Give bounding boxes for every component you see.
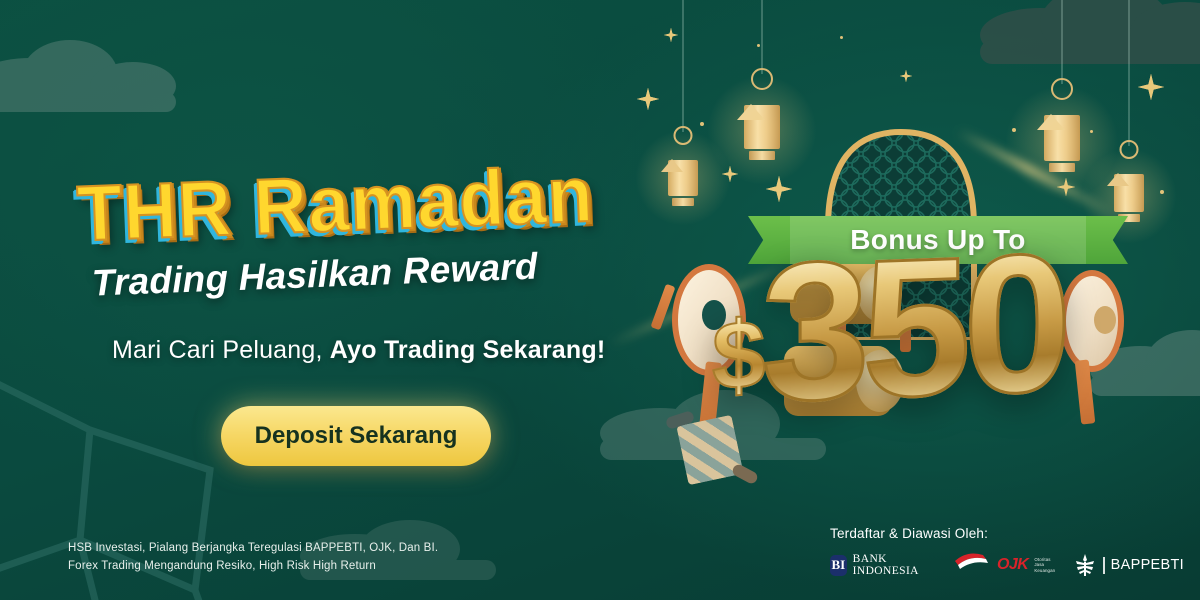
bappebti-logo: BAPPEBTI <box>1073 553 1184 577</box>
regulator-section: Terdaftar & Diawasi Oleh: BI BANK INDONE… <box>814 526 1184 578</box>
disclaimer-line-2: Forex Trading Mengandung Resiko, High Ri… <box>68 558 438 576</box>
ojk-full-name: Otoritas Jasa Keuangan <box>1034 557 1055 574</box>
deposit-now-button[interactable]: Deposit Sekarang <box>221 406 491 466</box>
bank-indonesia-logo: BI BANK INDONESIA <box>830 553 935 577</box>
disclaimer-line-1: HSB Investasi, Pialang Berjangka Teregul… <box>68 540 438 558</box>
ojk-mark-icon <box>953 552 991 578</box>
lantern-icon <box>736 0 788 180</box>
bonus-amount-value: 350 <box>761 247 1064 410</box>
promo-banner: Bonus Up To $ 350 THR Ramadan Trading Ha… <box>0 0 1200 600</box>
bappebti-emblem-icon <box>1073 553 1097 577</box>
bank-indonesia-mark-icon: BI <box>830 555 847 576</box>
lantern-icon <box>1036 0 1088 190</box>
sparkle-dot <box>840 36 843 39</box>
star-sparkle-icon <box>637 88 659 110</box>
tagline-normal-part: Mari Cari Peluang, <box>112 336 330 364</box>
bappebti-divider <box>1103 557 1105 574</box>
star-sparkle-icon <box>900 70 912 82</box>
disclaimer-text: HSB Investasi, Pialang Berjangka Teregul… <box>68 540 438 576</box>
regulator-logo-row: BI BANK INDONESIA OJK Otoritas Jasa Keua… <box>830 552 1184 578</box>
tagline: Mari Cari Peluang, Ayo Trading Sekarang! <box>112 336 632 365</box>
bank-indonesia-label: BANK INDONESIA <box>853 553 935 577</box>
regulator-title: Terdaftar & Diawasi Oleh: <box>830 526 1184 541</box>
bappebti-label: BAPPEBTI <box>1111 557 1184 573</box>
ojk-abbreviation: OJK <box>997 557 1028 573</box>
lantern-icon <box>1106 0 1152 230</box>
headline-block: THR Ramadan Trading Hasilkan Reward <box>76 155 660 305</box>
lantern-icon <box>660 0 706 200</box>
ojk-logo: OJK Otoritas Jasa Keuangan <box>953 552 1055 578</box>
cloud-decoration-left <box>0 40 200 110</box>
bonus-currency-symbol: $ <box>712 314 765 398</box>
bonus-amount: $ 350 <box>712 252 1064 405</box>
tagline-bold-part: Ayo Trading Sekarang! <box>330 336 606 364</box>
headline-title: THR Ramadan <box>76 153 659 254</box>
cloud-decoration-top-right <box>980 0 1200 62</box>
